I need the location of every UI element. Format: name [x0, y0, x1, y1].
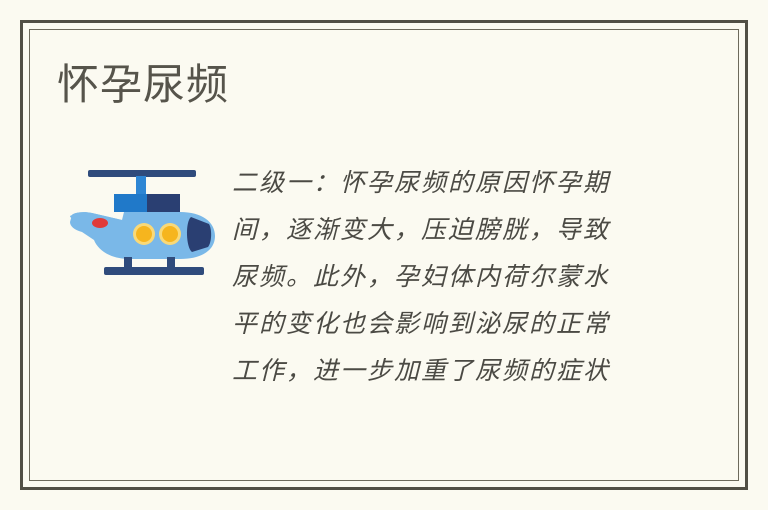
rotor-blade-icon	[88, 170, 196, 177]
window-inner-icon-2	[162, 226, 178, 242]
tail-light-icon	[92, 218, 108, 228]
window-inner-icon-1	[136, 226, 152, 242]
landing-skid-icon	[104, 267, 204, 275]
engine-housing-left-icon	[114, 194, 147, 212]
helicopter-illustration	[52, 158, 222, 278]
article-line: 尿频。此外，孕妇体内荷尔蒙水	[232, 254, 656, 301]
article-body: 二级一：怀孕尿频的原因怀孕期 间，逐渐变大，压迫膀胱，导致 尿频。此外，孕妇体内…	[232, 160, 656, 395]
card-content: 怀孕尿频	[0, 0, 768, 510]
article-line: 工作，进一步加重了尿频的症状	[232, 348, 656, 395]
engine-housing-right-icon	[147, 194, 180, 212]
article-line: 间，逐渐变大，压迫膀胱，导致	[232, 207, 656, 254]
article-line: 平的变化也会影响到泌尿的正常	[232, 301, 656, 348]
article-card-page: 怀孕尿频	[0, 0, 768, 510]
page-title: 怀孕尿频	[57, 58, 229, 112]
article-line: 二级一：怀孕尿频的原因怀孕期	[232, 160, 656, 207]
